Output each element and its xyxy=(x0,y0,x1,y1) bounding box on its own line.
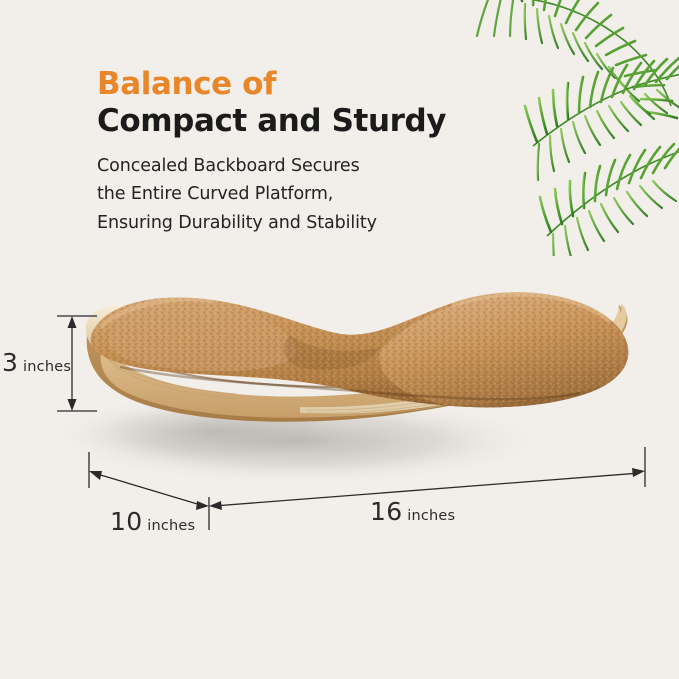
width-value: 16 xyxy=(370,497,402,526)
width-dimension-label: 16 inches xyxy=(370,497,455,526)
width-unit: inches xyxy=(402,508,455,524)
subheading-line-1: Concealed Backboard Secures xyxy=(97,152,517,180)
height-value: 3 xyxy=(2,348,18,377)
depth-unit: inches xyxy=(142,518,195,534)
heading-line-1: Balance of xyxy=(97,66,557,103)
product-image-curved-cat-shelf xyxy=(0,255,679,505)
height-dimension-label: 3 inches xyxy=(2,348,71,377)
palm-frond-lower xyxy=(540,141,679,256)
subheading-line-3: Ensuring Durability and Stability xyxy=(97,209,517,237)
heading-line-2: Compact and Sturdy xyxy=(97,103,557,140)
infographic-page: Balance of Compact and Sturdy Concealed … xyxy=(0,0,679,679)
subheading-line-2: the Entire Curved Platform, xyxy=(97,180,517,208)
depth-dimension-label: 10 inches xyxy=(110,507,195,536)
heading-block: Balance of Compact and Sturdy xyxy=(97,66,557,139)
depth-value: 10 xyxy=(110,507,142,536)
subheading-block: Concealed Backboard Secures the Entire C… xyxy=(97,152,517,237)
height-unit: inches xyxy=(18,359,71,375)
